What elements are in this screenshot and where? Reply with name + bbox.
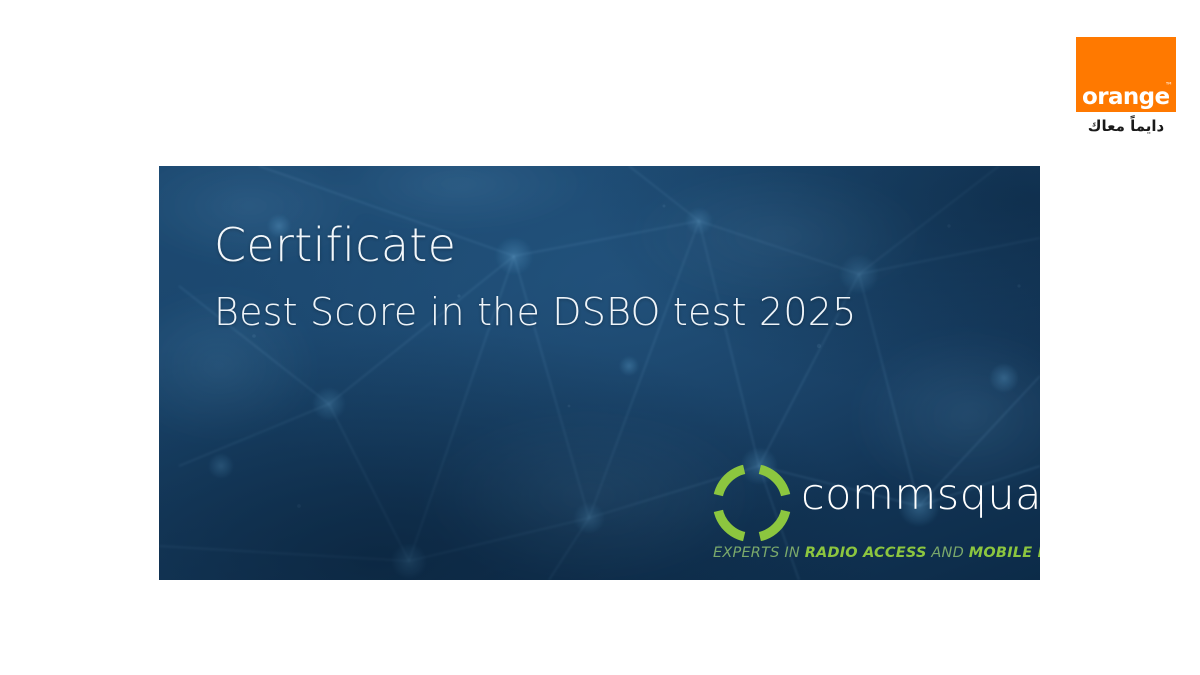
commsquare-tagline: EXPERTS IN RADIO ACCESS AND MOBILE DATA (713, 546, 1040, 561)
orange-logo: orange ™ دايماً معاك (1076, 37, 1176, 149)
trademark-symbol: ™ (1165, 82, 1173, 90)
commsquare-ring-emblem (711, 462, 793, 544)
tagline-part-0: EXPERTS IN (713, 545, 805, 561)
certificate-title: Certificate (214, 221, 456, 269)
slide-canvas: Certificate Best Score in the DSBO test … (0, 0, 1200, 675)
certificate-subtitle: Best Score in the DSBO test 2025 (214, 292, 856, 334)
orange-arabic-tagline: دايماً معاك (1076, 117, 1176, 135)
commsquare-logo: commsquare EXPERTS IN RADIO ACCESS AND M… (711, 462, 1016, 562)
orange-wordmark: orange (1082, 86, 1170, 109)
orange-brand-square: orange ™ (1076, 37, 1176, 112)
tagline-part-3: MOBILE DATA (969, 545, 1040, 561)
tagline-part-1: RADIO ACCESS (805, 545, 927, 561)
tagline-part-2: AND (927, 545, 969, 561)
commsquare-wordmark: commsquare (801, 474, 1040, 517)
certificate-panel: Certificate Best Score in the DSBO test … (159, 166, 1040, 580)
